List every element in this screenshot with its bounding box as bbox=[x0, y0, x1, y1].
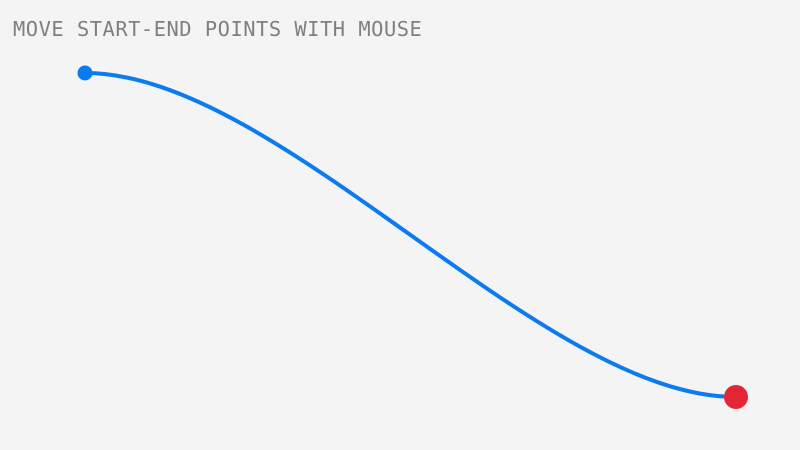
start-handle[interactable] bbox=[78, 66, 93, 81]
bezier-curve bbox=[85, 73, 736, 397]
canvas-root: MOVE START-END POINTS WITH MOUSE bbox=[0, 0, 800, 450]
bezier-canvas[interactable] bbox=[0, 0, 800, 450]
end-handle[interactable] bbox=[724, 385, 748, 409]
